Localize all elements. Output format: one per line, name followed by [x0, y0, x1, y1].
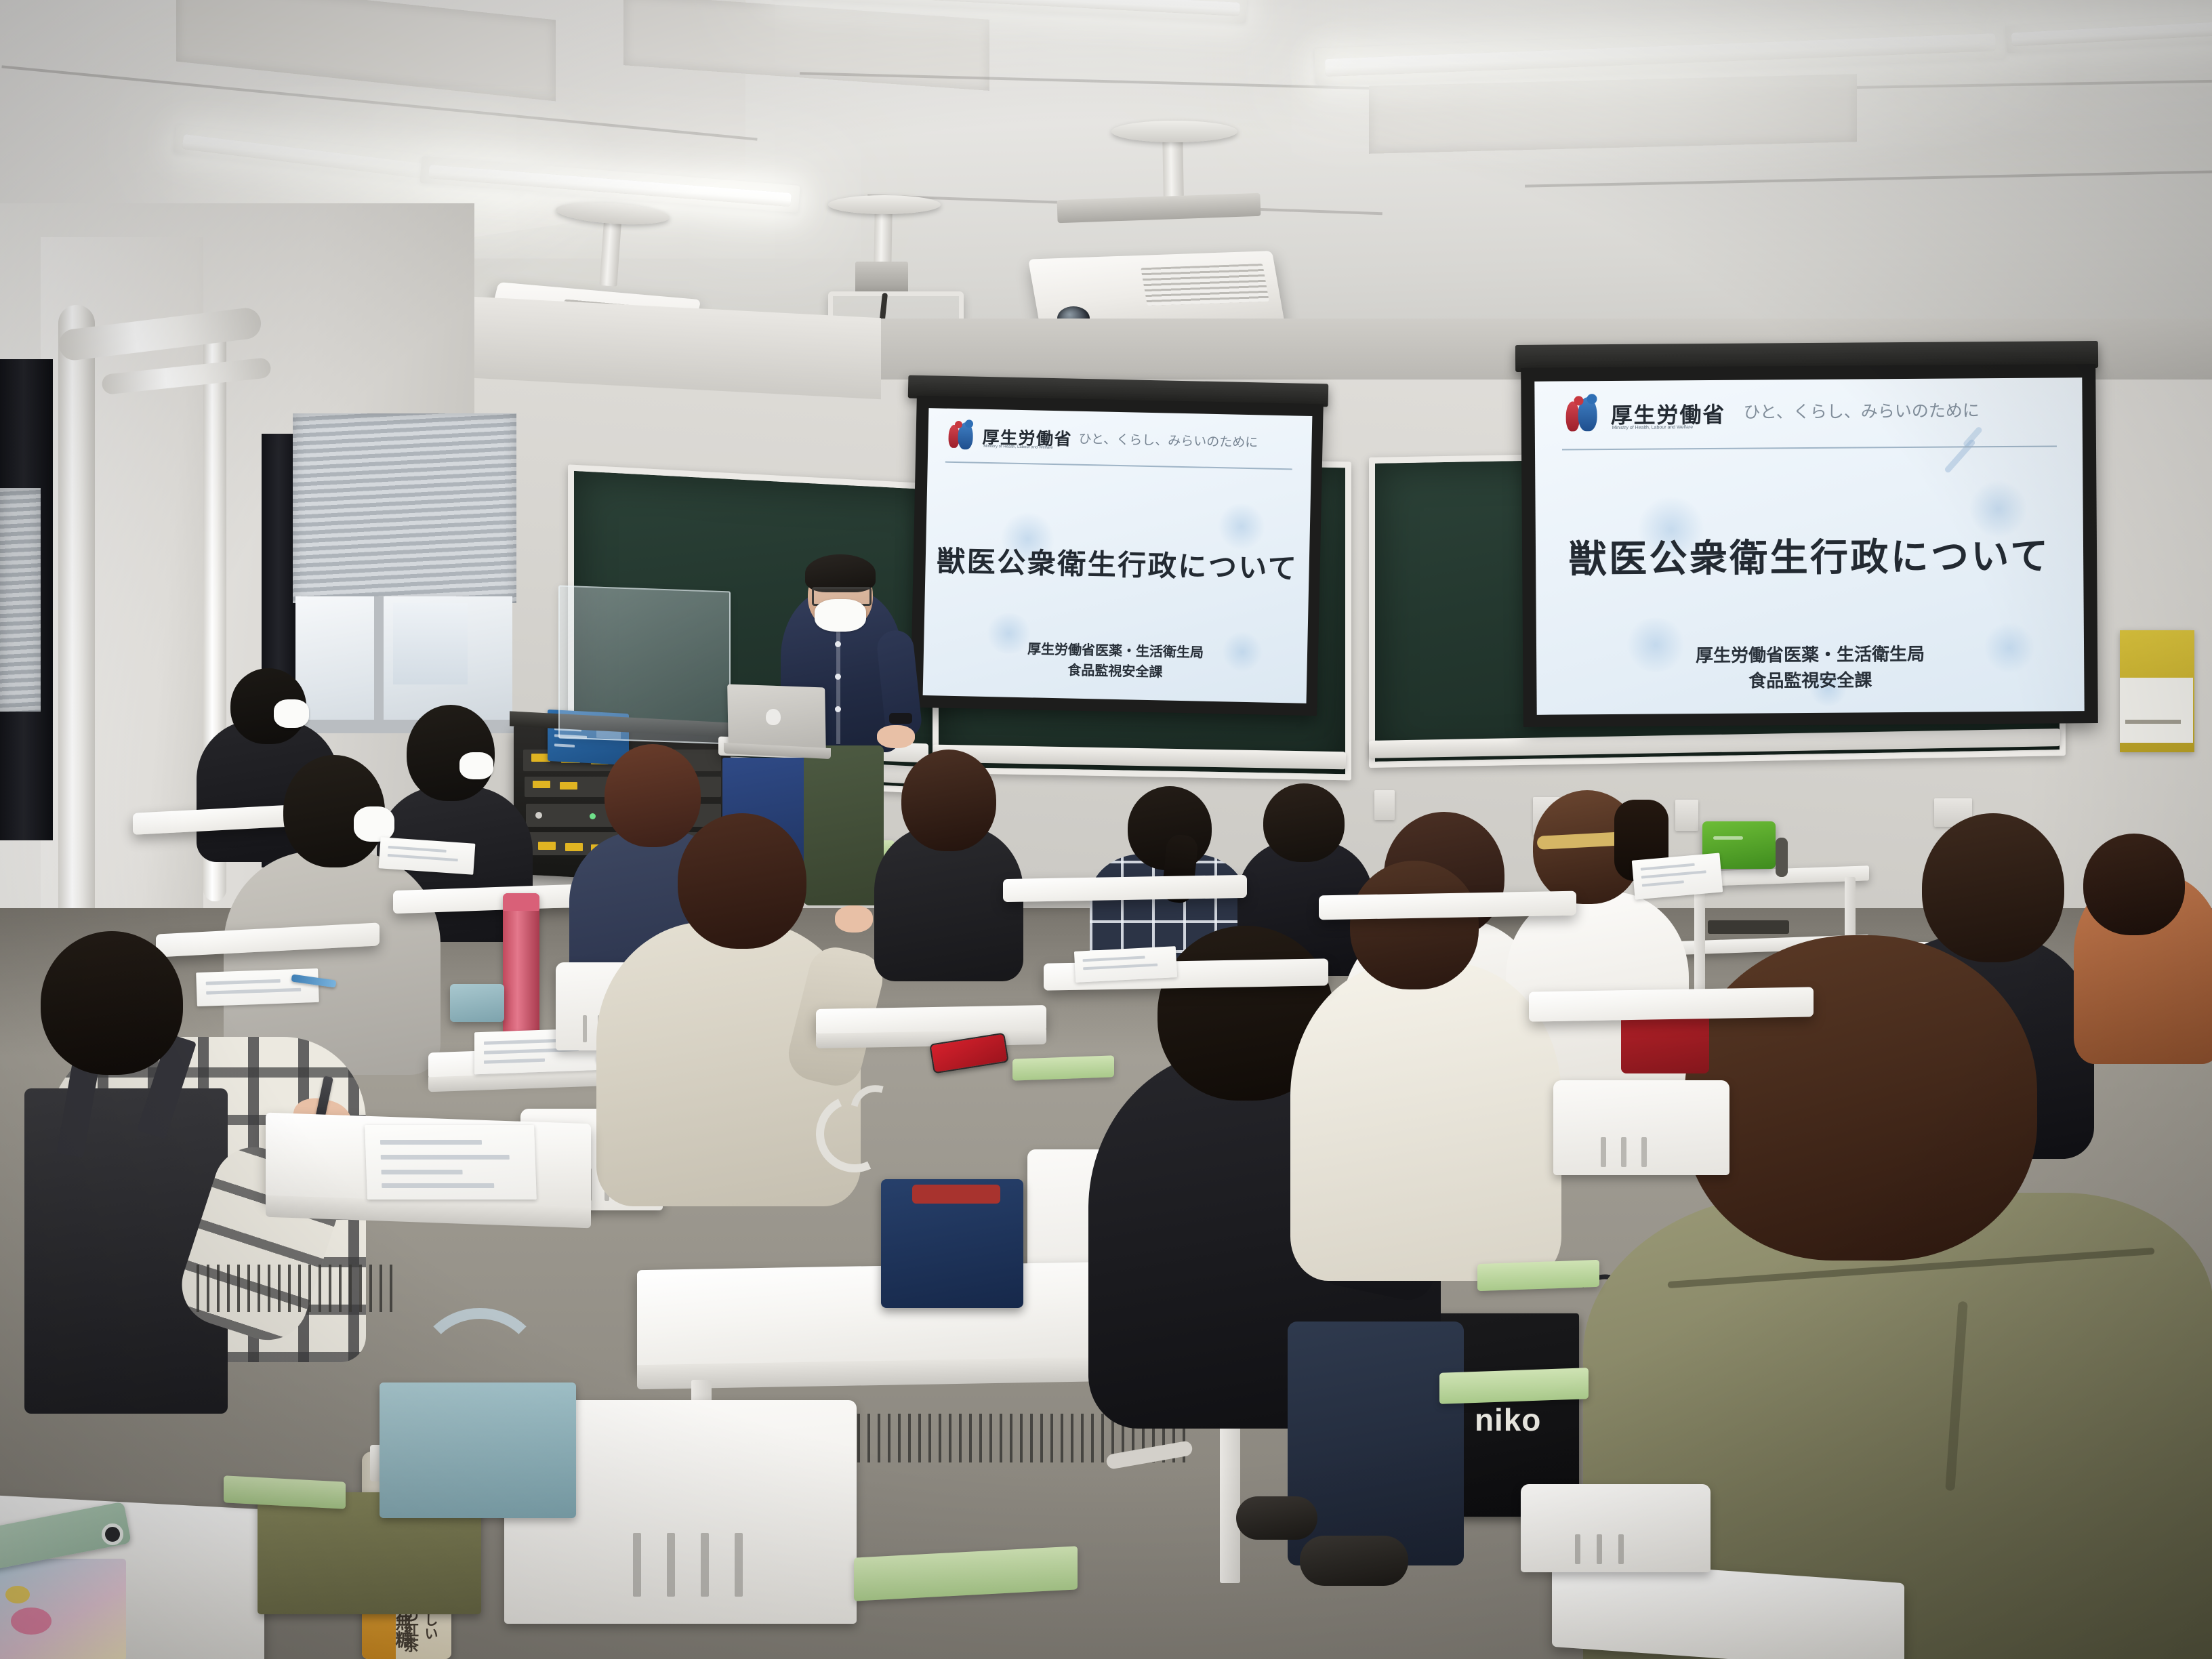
right-projection-screen: 厚生労働省 Ministry of Health, Labour and Wel…: [1534, 377, 2084, 715]
slide-title-left: 獣医公衆衛生行政について: [925, 538, 1309, 588]
blue-backpack-strap: [912, 1185, 1000, 1204]
ceiling-recess-c: [1369, 74, 1857, 154]
av-rack-button-5[interactable]: [533, 781, 550, 788]
student-r2-a-mask: [459, 752, 493, 779]
handout-right-1: [1632, 853, 1723, 899]
student-plaid-head: [41, 931, 183, 1075]
student-grey-cardigan-mask: [354, 806, 394, 842]
handout-back-left: [379, 837, 476, 875]
desk-right-upper: [1319, 891, 1576, 920]
chair-seat-green-2: [1439, 1368, 1589, 1404]
mhlw-logo-left: [947, 421, 979, 451]
student-back-left-mask: [274, 699, 309, 728]
wall-switch-plate: [1374, 790, 1395, 820]
student-right-dark-head: [1922, 813, 2064, 962]
green-case-highlight: [1713, 836, 1743, 840]
apple-logo-icon: [766, 709, 781, 725]
handout-center-row3: [1074, 946, 1177, 983]
student-black-blouse-head: [1263, 783, 1345, 862]
teal-pouch: [450, 984, 504, 1022]
student-right-red-head: [2083, 834, 2185, 935]
bag-strap-left: [415, 1308, 545, 1431]
chair-seat-green-4: [1477, 1260, 1599, 1291]
presenter-trousers: [804, 745, 884, 905]
slide-title-right: 獣医公衆衛生行政について: [1536, 525, 2084, 584]
projector-2-mount-block: [855, 262, 908, 295]
side-table-items: [1708, 920, 1789, 934]
wall-poster-white: [2120, 678, 2193, 743]
handout-mid-left: [196, 968, 319, 1006]
niko-tote-label: niko: [1475, 1401, 1541, 1438]
slide-affiliation-2-right: 食品監視安全課: [1536, 665, 2084, 694]
vertical-pipe-1: [58, 305, 95, 956]
side-table-cable: [1776, 838, 1788, 877]
window-blind-far-left: [0, 488, 41, 712]
window-mullion: [374, 596, 384, 725]
left-projection-screen: 厚生労働省 Ministry of Health, Labour and Wel…: [923, 408, 1313, 703]
mhlw-english-left: Ministry of Health, Labour and Welfare: [983, 445, 1052, 450]
projector-3-ceiling-plate: [1111, 121, 1237, 142]
window-building-outside: [393, 603, 468, 684]
presenter-mask: [815, 599, 866, 632]
projector-2-ceiling-plate: [828, 195, 941, 214]
mhlw-tagline-right: ひと、くらし、みらいのために: [1743, 397, 1980, 423]
card-dot-yellow: [5, 1586, 30, 1603]
av-rack-led-1: [535, 812, 542, 819]
student-r2-b-head: [605, 744, 701, 847]
student-beige-head: [678, 813, 806, 949]
mhlw-english-right: Ministry of Health, Labour and Welfare: [1612, 425, 1693, 430]
av-rack-button-7[interactable]: [538, 842, 556, 850]
presenter-shirt-button-2: [835, 674, 841, 680]
av-rack-button-8[interactable]: [565, 843, 583, 851]
projector-3-vent: [1141, 264, 1269, 306]
chair-seat-green-1: [1012, 1055, 1114, 1080]
window-blind: [293, 413, 516, 603]
chair-right-mid: [1553, 1080, 1729, 1175]
bottle-label-line-3: 無糖: [394, 1613, 412, 1648]
av-rack-led-2: [590, 813, 596, 819]
av-rack-button-6[interactable]: [560, 782, 577, 790]
presenter-hand: [877, 725, 915, 748]
mint-phone-camera-icon: [102, 1523, 123, 1545]
desk-left-front-basket: [197, 1265, 400, 1312]
shoe-right: [1300, 1536, 1408, 1586]
presenter-shirt-button-3: [835, 706, 841, 712]
student-front-cream-head: [1350, 861, 1479, 989]
acrylic-partition: [558, 586, 731, 745]
student-front-cream-torso: [1290, 962, 1561, 1281]
slide-affiliation-1-right: 厚生労働省医薬・生活衛生局: [1536, 639, 2084, 668]
student-foreground-olive-head: [1685, 935, 2037, 1261]
shoe-left: [1236, 1496, 1317, 1540]
chair-bottom-right: [1521, 1484, 1711, 1572]
presenter-watch: [889, 713, 912, 724]
thermos-cap: [503, 893, 539, 911]
mhlw-logo-right: [1564, 396, 1603, 434]
desk-right-mid: [1529, 987, 1814, 1021]
presenter-shirt-button-1: [835, 641, 841, 647]
handout-left-front: [365, 1125, 537, 1200]
classroom-photo: 厚生労働省 Ministry of Health, Labour and Wel…: [0, 0, 2212, 1659]
student-beige-hand: [835, 905, 873, 933]
desk-center-row2: [1003, 875, 1247, 902]
wall-poster-text-line: [2125, 720, 2181, 724]
wall-outlet-plate-2: [1675, 800, 1698, 831]
student-dark-ponytail-head: [901, 750, 996, 851]
colorful-card: [0, 1559, 126, 1659]
mhlw-tagline-left: ひと、くらし、みらいのために: [1078, 429, 1258, 451]
card-dot-pink: [11, 1607, 52, 1635]
